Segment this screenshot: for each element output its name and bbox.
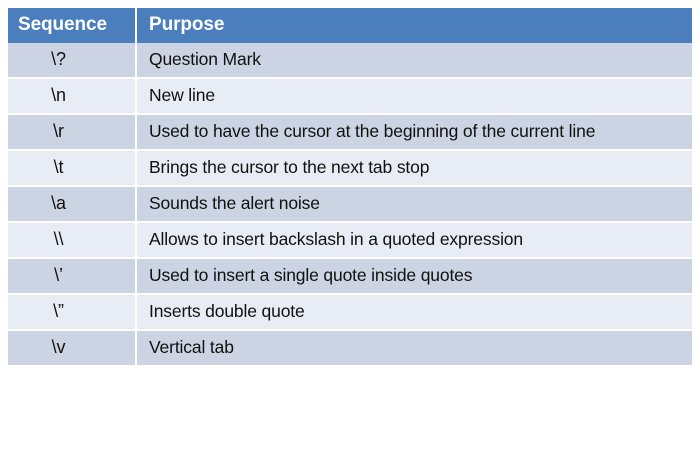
cell-purpose: Inserts double quote <box>136 294 692 330</box>
cell-sequence: \t <box>8 150 136 186</box>
cell-purpose: Sounds the alert noise <box>136 186 692 222</box>
cell-sequence: \a <box>8 186 136 222</box>
table-body: \?Question Mark\nNew line\rUsed to have … <box>8 43 692 365</box>
cell-purpose: Brings the cursor to the next tab stop <box>136 150 692 186</box>
table-row: \nNew line <box>8 78 692 114</box>
cell-sequence: \r <box>8 114 136 150</box>
cell-sequence: \n <box>8 78 136 114</box>
cell-purpose: Used to have the cursor at the beginning… <box>136 114 692 150</box>
table-row: \aSounds the alert noise <box>8 186 692 222</box>
cell-sequence: \’ <box>8 258 136 294</box>
cell-sequence: \” <box>8 294 136 330</box>
table-row: \rUsed to have the cursor at the beginni… <box>8 114 692 150</box>
table-row: \vVertical tab <box>8 330 692 365</box>
table-header-row: Sequence Purpose <box>8 8 692 43</box>
cell-purpose: Used to insert a single quote inside quo… <box>136 258 692 294</box>
escape-sequences-table-container: Sequence Purpose \?Question Mark\nNew li… <box>8 8 692 365</box>
escape-sequences-table: Sequence Purpose \?Question Mark\nNew li… <box>8 8 692 365</box>
cell-purpose: New line <box>136 78 692 114</box>
cell-sequence: \? <box>8 43 136 78</box>
cell-sequence: \v <box>8 330 136 365</box>
column-header-sequence: Sequence <box>8 8 136 43</box>
table-row: \\Allows to insert backslash in a quoted… <box>8 222 692 258</box>
table-row: \tBrings the cursor to the next tab stop <box>8 150 692 186</box>
cell-purpose: Allows to insert backslash in a quoted e… <box>136 222 692 258</box>
table-header: Sequence Purpose <box>8 8 692 43</box>
column-header-purpose: Purpose <box>136 8 692 43</box>
cell-purpose: Question Mark <box>136 43 692 78</box>
table-row: \?Question Mark <box>8 43 692 78</box>
table-row: \’Used to insert a single quote inside q… <box>8 258 692 294</box>
table-row: \”Inserts double quote <box>8 294 692 330</box>
cell-purpose: Vertical tab <box>136 330 692 365</box>
cell-sequence: \\ <box>8 222 136 258</box>
